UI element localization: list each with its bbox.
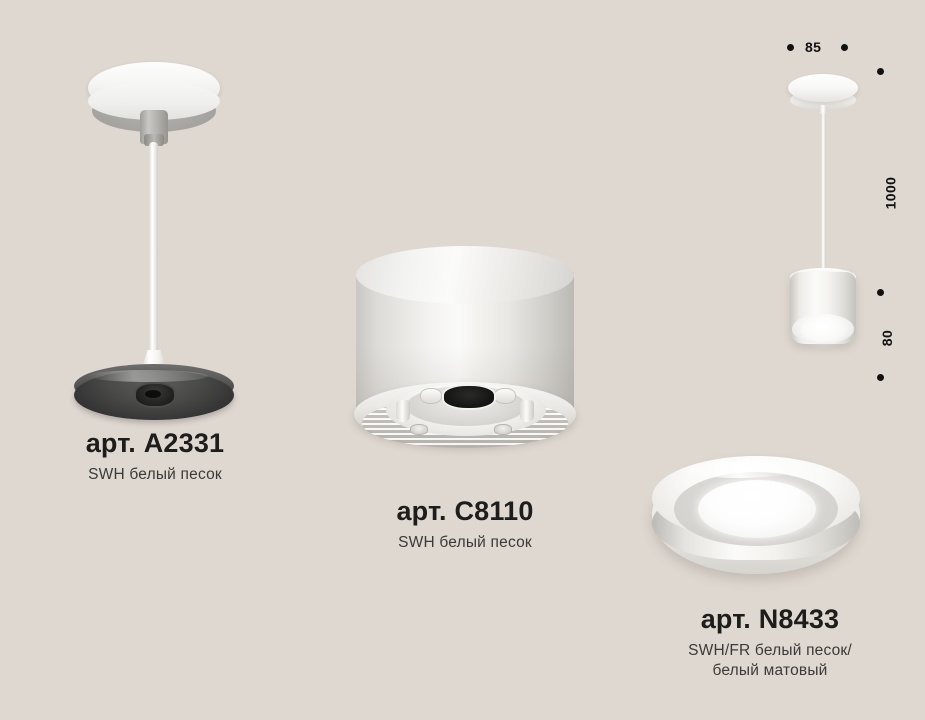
label-n8433: арт. N8433 SWH/FR белый песок/ белый мат…: [620, 606, 920, 681]
product-subtitle-c8110: SWH белый песок: [320, 533, 610, 553]
dim-dot-canopy-right: [841, 44, 848, 51]
product-title-a2331: арт. A2331: [0, 430, 310, 457]
module-gloss-highlight: [684, 462, 794, 478]
product-subtitle-n8433-line2: белый матовый: [620, 661, 920, 681]
product-subtitle-n8433-line1: SWH/FR белый песок/: [620, 641, 920, 661]
dim-dot-suspension-top: [877, 68, 884, 75]
label-c8110: арт. C8110 SWH белый песок: [320, 498, 610, 553]
dimension-suspension-length: 1000: [883, 177, 897, 210]
product-title-n8433: арт. N8433: [620, 606, 920, 633]
screw-boss-left: [420, 388, 442, 404]
label-a2331: арт. A2331 SWH белый песок: [0, 430, 310, 485]
pendant-suspension-wire: [821, 112, 826, 276]
dim-dot-canopy-left: [787, 44, 794, 51]
product-subtitle-a2331: SWH белый песок: [0, 465, 310, 485]
lamp-socket: [134, 382, 176, 408]
product-title-c8110: арт. C8110: [320, 498, 610, 525]
wiring-aperture: [442, 384, 496, 410]
product-image-c8110: [344, 246, 588, 466]
mounting-stud-right: [520, 400, 534, 422]
fixing-screw-left: [410, 424, 428, 435]
pendant-diffuser-lens: [802, 320, 844, 342]
cable-gland: [140, 110, 168, 144]
led-diffuser-lens: [698, 480, 816, 538]
dim-dot-lamp-bottom: [877, 374, 884, 381]
screw-boss-right: [494, 388, 516, 404]
suspension-cable: [149, 142, 158, 354]
dimension-lamp-height: 80: [880, 330, 894, 346]
fixing-screw-right: [494, 424, 512, 435]
cylinder-top-cap: [356, 246, 574, 304]
mounting-disc-highlight: [88, 370, 208, 382]
mounting-stud-left: [396, 400, 410, 422]
pendant-canopy: [788, 74, 858, 102]
product-image-n8433: [648, 452, 864, 598]
dim-dot-suspension-bottom: [877, 289, 884, 296]
assembled-pendant-image: [786, 74, 862, 380]
product-composition-canvas: арт. A2331 SWH белый песок арт. C8110 SW…: [0, 0, 925, 720]
product-image-a2331: [62, 58, 248, 408]
dimension-canopy-diameter: 85: [805, 40, 821, 54]
